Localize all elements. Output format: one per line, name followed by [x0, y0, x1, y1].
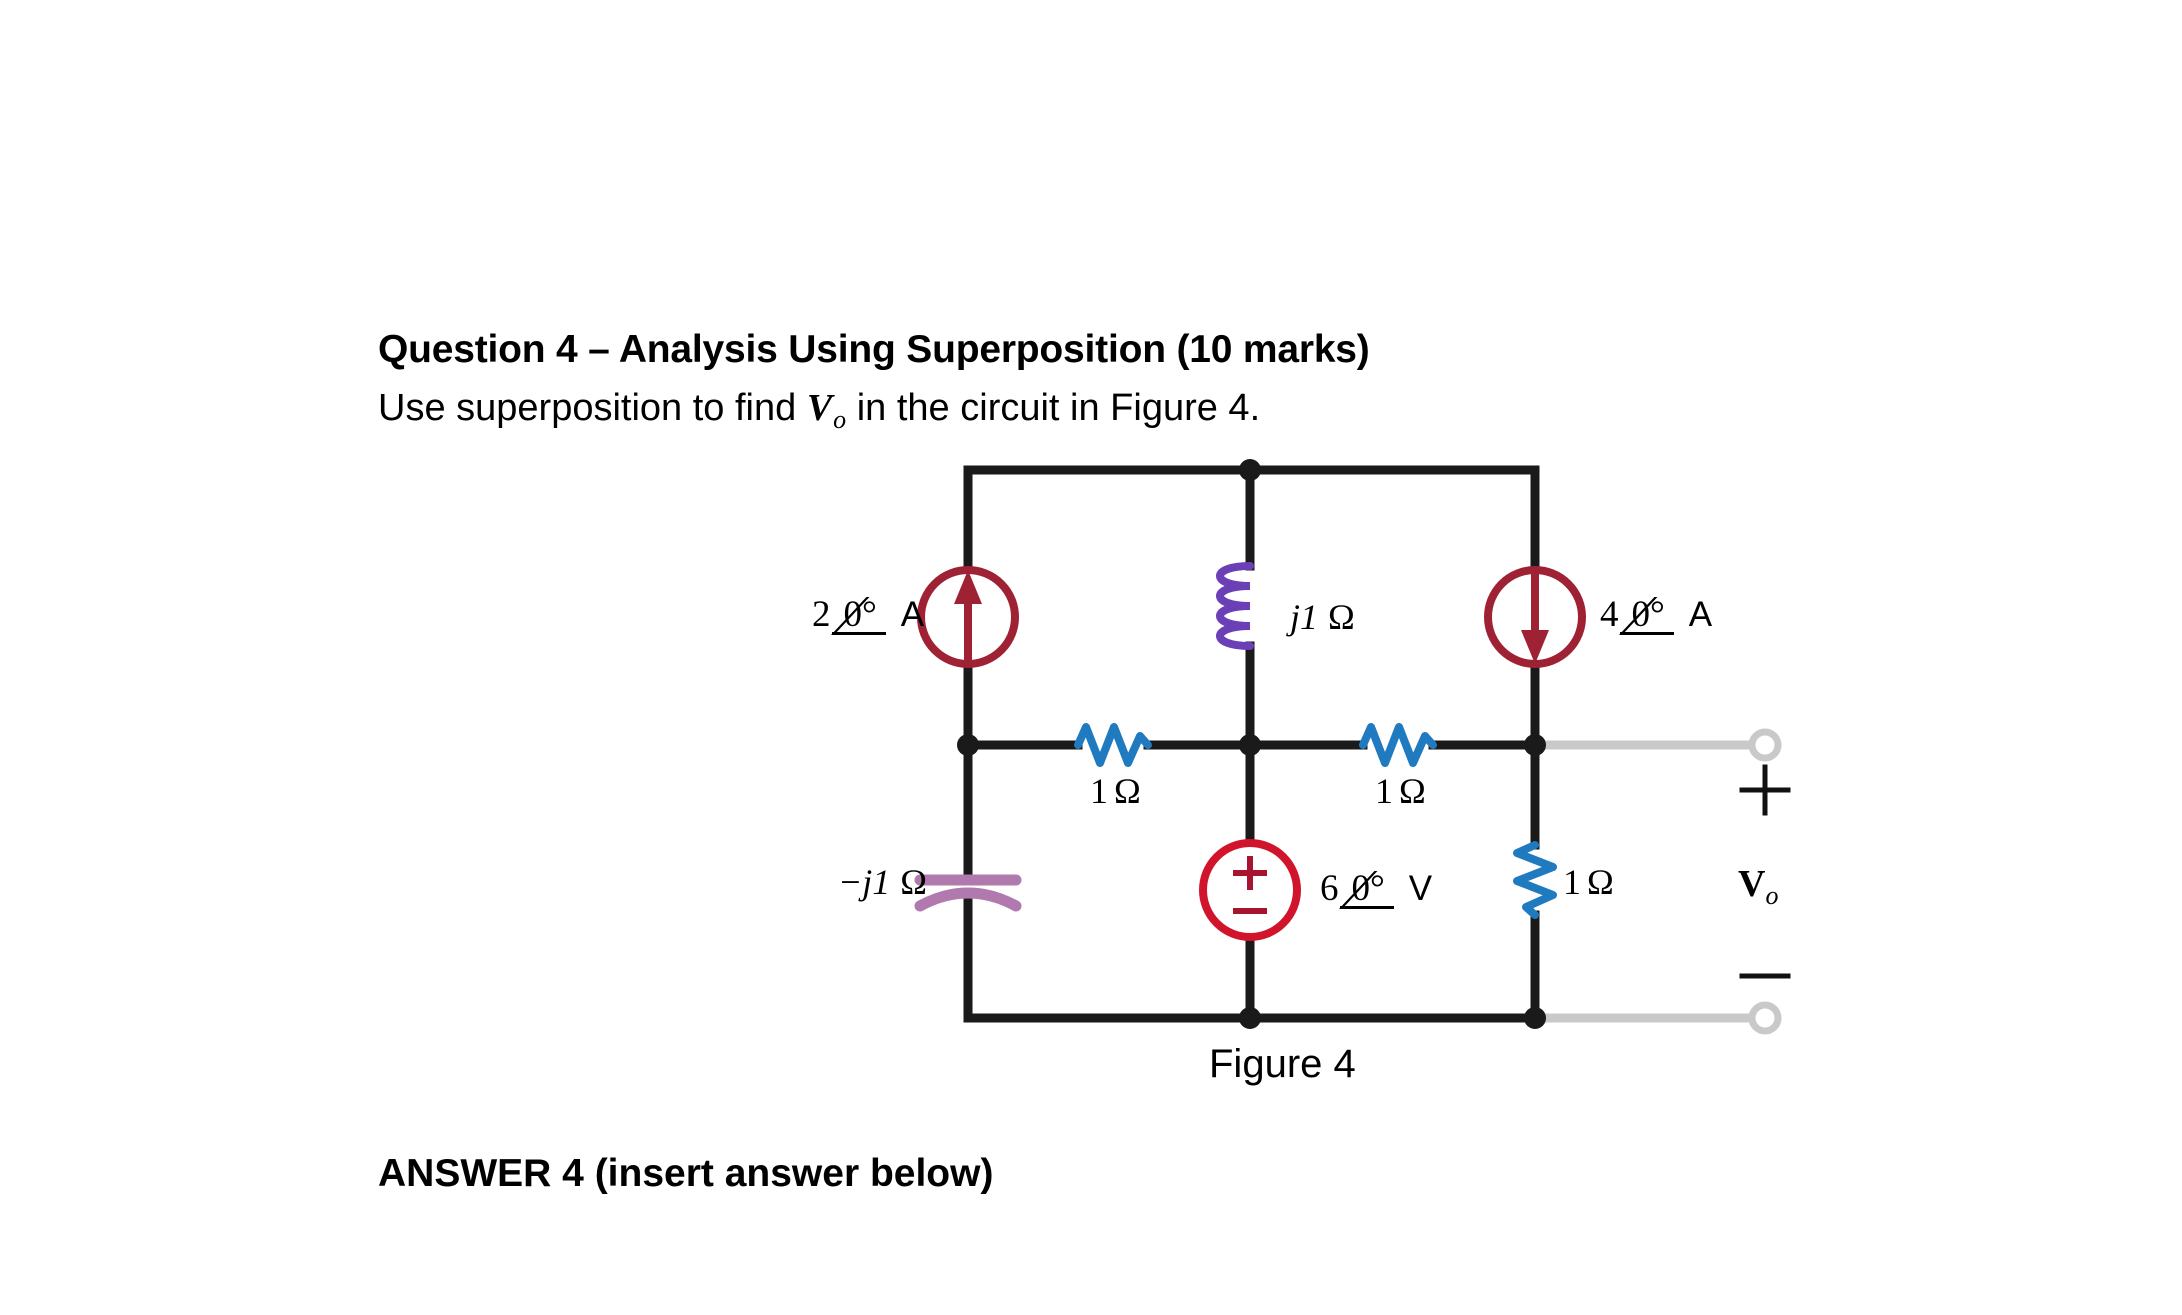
current-source-left — [921, 570, 1015, 664]
page-root: Question 4 – Analysis Using Superpositio… — [0, 0, 2182, 1315]
node-middle-center — [1239, 734, 1261, 756]
output-terminal-bottom — [1752, 1005, 1778, 1031]
label-vs-angle: 0° — [1340, 870, 1387, 907]
label-cs-right-angle: 0° — [1620, 596, 1667, 633]
label-cs-left-unit: A — [901, 595, 924, 634]
label-capacitor-value: −j1 — [838, 862, 890, 902]
output-terminal-top — [1752, 732, 1778, 758]
label-vo-symbol: V — [1738, 863, 1765, 905]
label-resistor-right-vertical: 1Ω — [1563, 861, 1614, 903]
circuit-diagram — [0, 0, 2182, 1315]
label-vo-subscript: o — [1765, 881, 1778, 910]
label-r3-value: 1 — [1563, 862, 1581, 902]
node-top-middle — [1239, 459, 1261, 481]
label-resistor-top-right: 1Ω — [1375, 770, 1426, 812]
label-resistor-top-left: 1Ω — [1090, 770, 1141, 812]
label-current-source-left: 20°A — [812, 596, 924, 633]
answer-prompt: ANSWER 4 (insert answer below) — [378, 1152, 993, 1196]
label-r2-value: 1 — [1375, 771, 1393, 811]
resistor-top-right — [1363, 727, 1433, 763]
label-cs-right-unit: A — [1689, 595, 1712, 634]
label-inductor-middle: j1Ω — [1290, 596, 1355, 638]
label-inductor-value: j1 — [1290, 597, 1318, 637]
label-current-source-right: 40°A — [1600, 596, 1712, 633]
label-cs-left-magnitude: 2 — [812, 594, 831, 635]
figure-caption: Figure 4 — [1209, 1042, 1356, 1087]
inductor-middle — [1220, 566, 1250, 646]
label-r1-unit: Ω — [1114, 771, 1141, 811]
node-bottom-middle — [1239, 1007, 1261, 1029]
label-r1-value: 1 — [1090, 771, 1108, 811]
label-output-voltage: Vo — [1738, 862, 1778, 911]
node-middle-left — [957, 734, 979, 756]
node-middle-right — [1524, 734, 1546, 756]
label-capacitor-unit: Ω — [900, 862, 927, 902]
current-source-right — [1488, 570, 1582, 664]
label-voltage-source-middle: 60°V — [1320, 870, 1432, 907]
voltage-source-middle — [1203, 843, 1297, 937]
resistor-top-left — [1078, 727, 1148, 763]
label-vs-unit: V — [1409, 869, 1432, 908]
node-bottom-right — [1524, 1007, 1546, 1029]
label-cs-right-magnitude: 4 — [1600, 594, 1619, 635]
label-r2-unit: Ω — [1399, 771, 1426, 811]
label-inductor-unit: Ω — [1328, 597, 1355, 637]
label-r3-unit: Ω — [1587, 862, 1614, 902]
label-vs-magnitude: 6 — [1320, 868, 1339, 909]
label-cs-left-angle: 0° — [832, 596, 879, 633]
label-capacitor-left: −j1Ω — [838, 861, 927, 903]
resistor-right-vertical — [1517, 845, 1553, 915]
